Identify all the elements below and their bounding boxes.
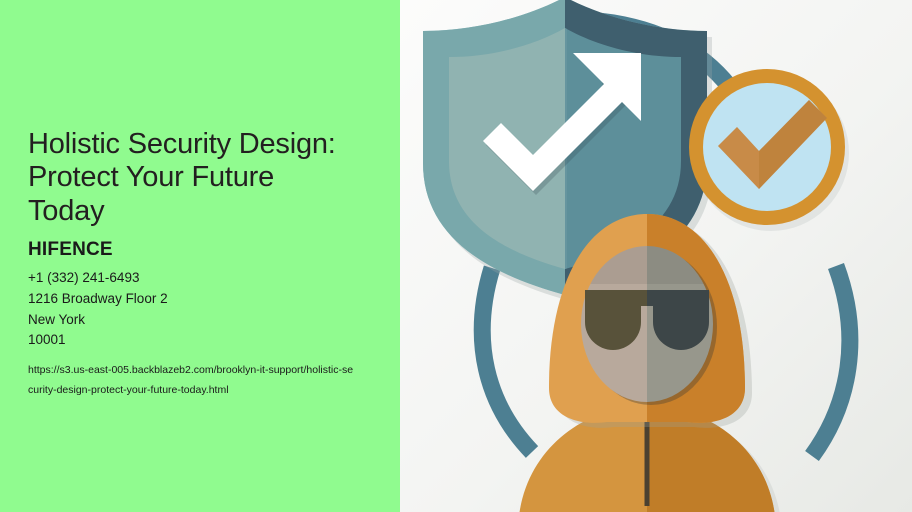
glasses-lens-right <box>653 294 709 350</box>
glasses-lens-left <box>585 294 641 350</box>
company-name: HIFENCE <box>28 239 372 261</box>
info-panel: Holistic Security Design: Protect Your F… <box>0 0 400 512</box>
promo-slide: Holistic Security Design: Protect Your F… <box>0 0 912 512</box>
address-zip: 10001 <box>28 330 372 351</box>
address-street: 1216 Broadway Floor 2 <box>28 289 372 310</box>
address-city: New York <box>28 310 372 331</box>
phone-number: +1 (332) 241-6493 <box>28 268 372 289</box>
illustration-panel <box>400 0 912 512</box>
security-illustration <box>400 0 912 512</box>
text-block: Holistic Security Design: Protect Your F… <box>28 128 372 400</box>
article-url[interactable]: https://s3.us-east-005.backblazeb2.com/b… <box>28 361 358 400</box>
page-title: Holistic Security Design: Protect Your F… <box>28 128 348 229</box>
